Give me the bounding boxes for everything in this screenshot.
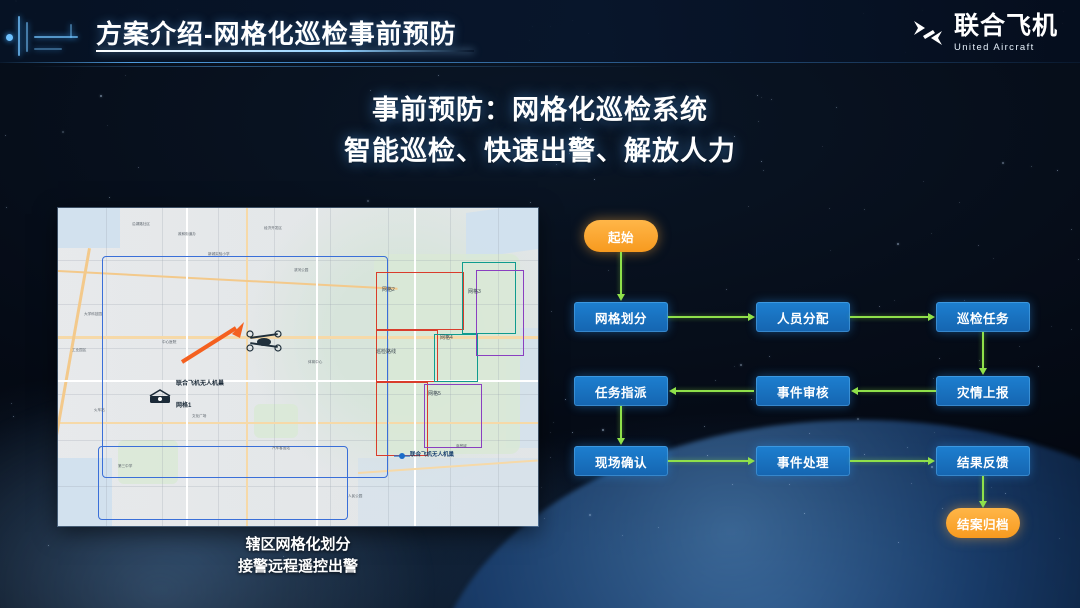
flow-node-label: 灾情上报	[957, 382, 1009, 401]
map-small-label: 经济开发区	[264, 226, 282, 231]
headline-block: 事前预防：网格化巡检系统 智能巡检、快速出警、解放人力	[0, 92, 1080, 169]
map-small-label: 滨河公园	[294, 268, 308, 273]
map-small-label: 人民公园	[348, 494, 362, 499]
map-small-label: 政和街道办	[178, 232, 196, 237]
map-caption-line-2: 接警远程遥控出警	[58, 556, 538, 578]
headline-line-1: 事前预防：网格化巡检系统	[0, 92, 1080, 128]
flow-arrowhead-icon	[617, 438, 625, 445]
flow-arrowhead-icon	[979, 501, 987, 508]
flow-node-label: 结案归档	[957, 514, 1009, 533]
flow-node-label: 结果反馈	[957, 452, 1009, 471]
grid-patrol-map[interactable]: 沿湖路社区 政和街道办 新城实验小学 经济开发区 滨河公园 大学科技园 工业园区…	[58, 208, 538, 526]
slide-canvas: 方案介绍-网格化巡检事前预防 联合飞机 United Aircraft 事前预防…	[0, 0, 1080, 608]
flow-edge	[620, 406, 622, 438]
flow-node-event-handling[interactable]: 事件处理	[756, 446, 850, 476]
map-grid-cell-teal	[434, 334, 478, 382]
flow-node-task-dispatch[interactable]: 任务指派	[574, 376, 668, 406]
map-small-label: 工业园区	[72, 348, 86, 353]
flow-arrowhead-icon	[617, 294, 625, 301]
flow-edge	[620, 252, 622, 294]
map-caption-line-1: 辖区网格化划分	[58, 534, 538, 556]
logo-mark-icon	[911, 18, 945, 48]
map-area-label: 巡检路线	[376, 348, 396, 355]
map-small-label: 大学科技园	[84, 312, 102, 317]
map-grid-label: 网格1	[176, 400, 191, 409]
flow-node-label: 现场确认	[595, 452, 647, 471]
flow-arrowhead-icon	[748, 457, 755, 465]
logo-text: 联合飞机 United Aircraft	[954, 14, 1058, 53]
flow-node-label: 事件审核	[777, 382, 829, 401]
header-divider	[0, 62, 1080, 63]
map-area-label: 网格3	[468, 288, 481, 295]
flow-node-label: 事件处理	[777, 452, 829, 471]
workflow-diagram: 起始 网格划分 人员分配 巡检任务 灾情上报 事件审核 任务指派 现场确认 事件…	[560, 208, 1060, 548]
flow-edge	[982, 332, 984, 368]
map-grid-cell-red	[376, 382, 428, 456]
flow-edge	[668, 316, 748, 318]
map-small-label: 商贸城	[456, 444, 467, 449]
flow-node-label: 巡检任务	[957, 308, 1009, 327]
flow-node-patrol-task[interactable]: 巡检任务	[936, 302, 1030, 332]
flow-node-case-archive[interactable]: 结案归档	[946, 508, 1020, 538]
map-small-label: 第三中学	[118, 464, 132, 469]
flow-node-result-feedback[interactable]: 结果反馈	[936, 446, 1030, 476]
flow-node-start[interactable]: 起始	[584, 220, 658, 252]
flow-edge	[850, 460, 928, 462]
flow-node-event-review[interactable]: 事件审核	[756, 376, 850, 406]
map-small-label: 文化广场	[192, 414, 206, 419]
map-small-label: 火车站	[94, 408, 105, 413]
flow-edge	[982, 476, 984, 502]
map-area-label: 网格2	[382, 286, 395, 293]
map-grid-cell-red	[376, 272, 464, 330]
flow-node-grid-division[interactable]: 网格划分	[574, 302, 668, 332]
logo-text-en: United Aircraft	[954, 43, 1058, 53]
flow-node-label: 人员分配	[777, 308, 829, 327]
flow-arrowhead-icon	[979, 368, 987, 375]
map-district-outline	[98, 446, 348, 520]
drone-nest-icon	[392, 448, 412, 469]
flight-direction-arrow-icon	[178, 318, 258, 371]
headline-line-2: 智能巡检、快速出警、解放人力	[0, 133, 1080, 169]
header-decor-icon	[6, 10, 96, 62]
flow-arrowhead-icon	[851, 387, 858, 395]
drone-nest-icon	[146, 386, 174, 411]
map-water	[58, 208, 120, 248]
map-small-label: 体育中心	[308, 360, 322, 365]
flow-node-label: 网格划分	[595, 308, 647, 327]
page-title: 方案介绍-网格化巡检事前预防	[96, 14, 457, 51]
header-divider-secondary	[30, 66, 670, 67]
flow-edge	[850, 316, 928, 318]
map-grid-cell-purple	[476, 270, 524, 356]
flow-edge	[668, 460, 748, 462]
flow-node-label: 起始	[608, 227, 634, 246]
map-drone-nest-label: 联合飞机无人机巢	[410, 450, 454, 458]
slide-header: 方案介绍-网格化巡检事前预防 联合飞机 United Aircraft	[0, 0, 1080, 70]
map-grid-cell-red	[376, 330, 438, 382]
map-small-label: 汽车客运站	[272, 446, 290, 451]
flow-edge	[858, 390, 936, 392]
flow-node-staff-assignment[interactable]: 人员分配	[756, 302, 850, 332]
flow-arrowhead-icon	[928, 313, 935, 321]
title-underline	[96, 50, 474, 52]
flow-arrowhead-icon	[928, 457, 935, 465]
map-small-label: 新城实验小学	[208, 252, 230, 257]
flow-arrowhead-icon	[748, 313, 755, 321]
flow-node-disaster-report[interactable]: 灾情上报	[936, 376, 1030, 406]
map-area-label: 网格4	[440, 334, 453, 341]
brand-logo: 联合飞机 United Aircraft	[911, 10, 1058, 56]
map-small-label: 沿湖路社区	[132, 222, 150, 227]
map-area-label: 网格5	[428, 390, 441, 397]
logo-text-cn: 联合飞机	[954, 14, 1058, 39]
flow-arrowhead-icon	[669, 387, 676, 395]
map-caption: 辖区网格化划分 接警远程遥控出警	[58, 534, 538, 578]
flow-node-onsite-confirm[interactable]: 现场确认	[574, 446, 668, 476]
map-drone-nest-label: 联合飞机无人机巢	[176, 378, 224, 387]
flow-edge	[676, 390, 754, 392]
map-gridline	[498, 208, 499, 526]
map-small-label: 中心医院	[162, 340, 176, 345]
flow-node-label: 任务指派	[595, 382, 647, 401]
